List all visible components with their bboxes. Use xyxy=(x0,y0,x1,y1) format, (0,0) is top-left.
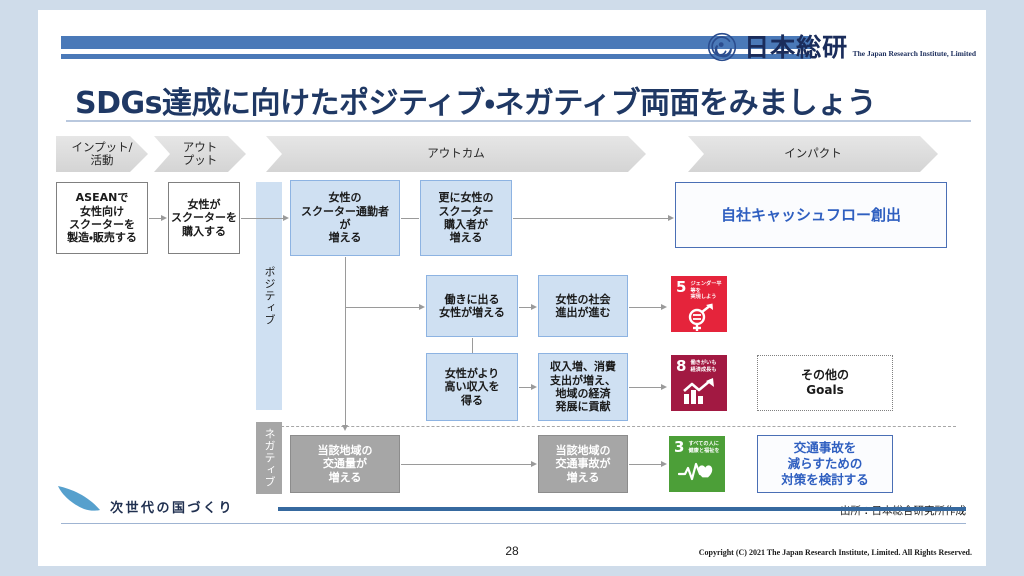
connector-traffic-to-accidents xyxy=(401,464,531,465)
node-outcome-more-buyers: 更に女性のスクーター購入者が増える xyxy=(420,180,512,256)
arrowhead-output-commuters xyxy=(283,215,289,221)
frame-band-top xyxy=(0,0,1024,10)
arrowhead-sdg8 xyxy=(661,384,667,390)
negative-side-label: ネガティブ xyxy=(256,422,282,494)
connector-more-buyers-cashflow xyxy=(513,218,668,219)
logo-spiral-icon xyxy=(707,32,737,62)
sdg-icon-8: 8 働きがいも経済成長も xyxy=(671,355,727,411)
footer-accent-bar xyxy=(278,507,966,511)
arrowhead-women-work xyxy=(419,304,425,310)
header-bar-thin xyxy=(61,54,811,59)
title-underline xyxy=(66,120,971,122)
frame-band-bottom xyxy=(0,566,1024,576)
node-outcome-commuters: 女性のスクーター通勤者が増える xyxy=(290,180,400,256)
sdg-icon-5: 5 ジェンダー平等を実現しよう xyxy=(671,276,727,332)
phase-chevron-input-activity: インプット/活動 xyxy=(56,136,148,172)
connector-social-to-sdg5 xyxy=(629,307,661,308)
sdg-number-5: 5 xyxy=(676,280,686,295)
frame-band-left xyxy=(0,0,38,576)
page-title: SDGs達成に向けたポジティブ・ネガティブ両面をみましょう xyxy=(75,78,876,122)
frame-band-right xyxy=(986,0,1024,576)
slide-canvas: 日本総研 The Japan Research Institute, Limit… xyxy=(38,10,986,566)
connector-output-commuters xyxy=(241,218,283,219)
connector-women-work-social xyxy=(519,307,531,308)
connector-commuters-to-negative-vertical xyxy=(345,257,346,425)
phase-label-impact: インパクト xyxy=(778,147,848,160)
connector-commuters-more-buyers xyxy=(401,218,419,219)
sdg-label-3: すべての人に健康と福祉を xyxy=(688,440,719,454)
sdg-label-8: 働きがいも経済成長も xyxy=(690,359,716,373)
node-outcome-local-economy: 収入増、消費支出が増え、地域の経済発展に貢献 xyxy=(538,353,628,421)
sdg-number-3: 3 xyxy=(674,440,684,455)
logo-name-jp: 日本総研 xyxy=(744,33,848,62)
header-bar-thick xyxy=(61,36,811,49)
node-impact-countermeasure: 交通事故を減らすための対策を検討する xyxy=(757,435,893,493)
positive-negative-divider xyxy=(256,426,956,427)
connector-input-output xyxy=(149,218,161,219)
arrowhead-cashflow xyxy=(668,215,674,221)
good-health-icon xyxy=(674,456,721,488)
node-negative-traffic: 当該地域の交通量が増える xyxy=(290,435,400,493)
arrowhead-social-advance xyxy=(531,304,537,310)
sdg-label-5: ジェンダー平等を実現しよう xyxy=(690,280,723,301)
arrowhead-negative-traffic xyxy=(342,425,348,431)
footer-swoosh-icon xyxy=(56,483,104,520)
phase-label-output: アウトプット xyxy=(177,141,224,167)
copyright-notice: Copyright (C) 2021 The Japan Research In… xyxy=(699,548,972,557)
arrowhead-local-economy xyxy=(531,384,537,390)
node-other-goals: その他のGoals xyxy=(757,355,893,411)
company-logo: 日本総研 The Japan Research Institute, Limit… xyxy=(707,32,976,62)
connector-economy-to-sdg8 xyxy=(629,387,661,388)
connector-branch-to-women-work xyxy=(345,307,419,308)
arrowhead-accidents xyxy=(531,461,537,467)
node-outcome-social-advance: 女性の社会進出が進む xyxy=(538,275,628,337)
arrowhead-sdg5 xyxy=(661,304,667,310)
logo-name-en: The Japan Research Institute, Limited xyxy=(853,49,976,58)
footer-divider xyxy=(61,523,966,524)
node-outcome-higher-income: 女性がより高い収入を得る xyxy=(426,353,518,421)
node-impact-cashflow: 自社キャッシュフロー創出 xyxy=(675,182,947,248)
arrowhead-sdg3 xyxy=(661,461,667,467)
economic-growth-icon xyxy=(676,375,723,407)
node-outcome-women-work: 働きに出る女性が増える xyxy=(426,275,518,337)
phase-label-input-activity: インプット/活動 xyxy=(65,141,138,167)
node-negative-accidents: 当該地域の交通事故が増える xyxy=(538,435,628,493)
footer-tagline: 次世代の国づくり xyxy=(110,497,234,516)
connector-income-to-economy xyxy=(519,387,531,388)
phase-chevron-impact: インパクト xyxy=(688,136,938,172)
phase-chevron-outcome: アウトカム xyxy=(266,136,646,172)
slide: 日本総研 The Japan Research Institute, Limit… xyxy=(0,0,1024,576)
phase-chevron-output: アウトプット xyxy=(154,136,246,172)
phase-label-outcome: アウトカム xyxy=(421,147,491,160)
node-output: 女性がスクーターを購入する xyxy=(168,182,240,254)
sdg-number-8: 8 xyxy=(676,359,686,374)
gender-equality-icon xyxy=(676,302,723,333)
node-input: ASEANで女性向けスクーターを製造・販売する xyxy=(56,182,148,254)
connector-accidents-to-sdg3 xyxy=(629,464,661,465)
positive-side-label: ポジティブ xyxy=(256,182,282,410)
sdg-icon-3: 3 すべての人に健康と福祉を xyxy=(669,436,725,492)
arrowhead-input-output xyxy=(161,215,167,221)
